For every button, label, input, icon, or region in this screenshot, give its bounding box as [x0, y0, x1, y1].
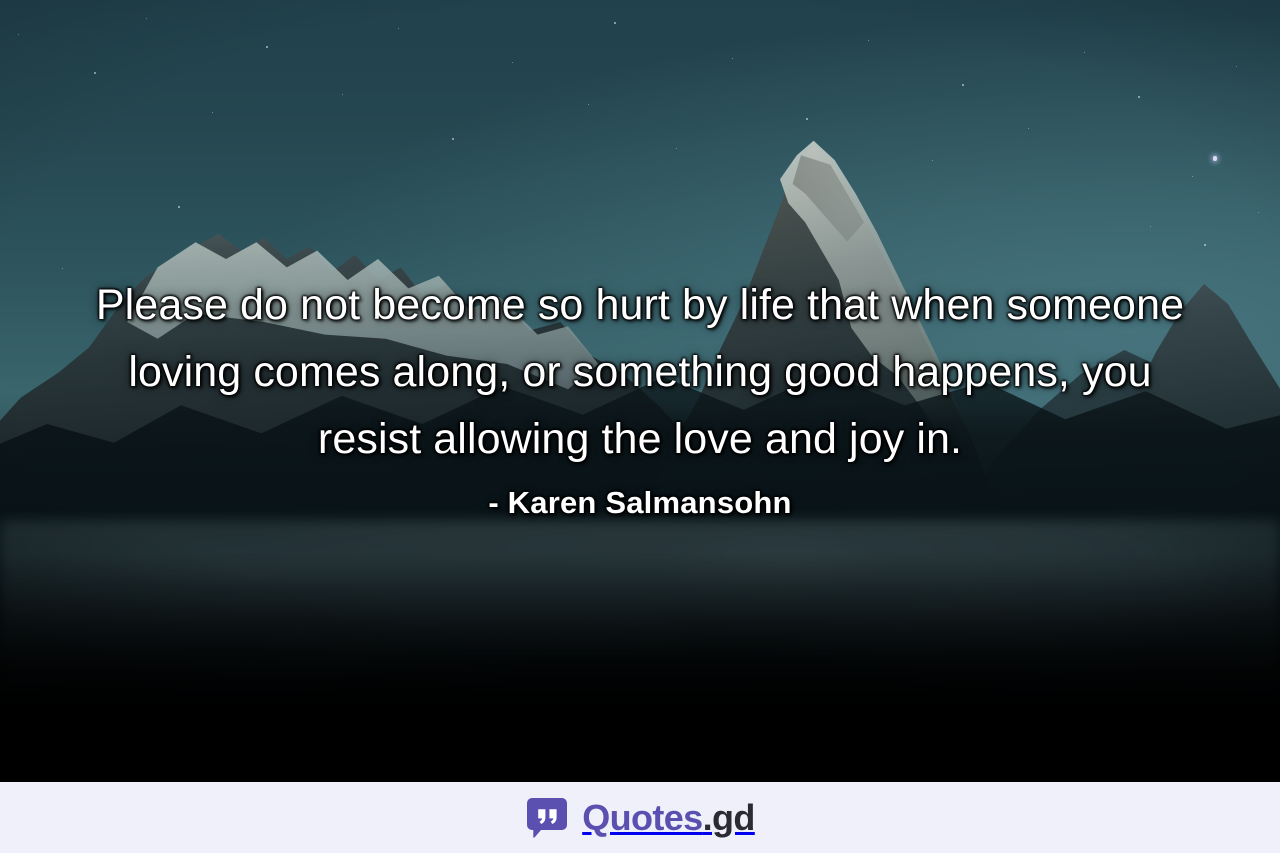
- logo-dot: .: [703, 800, 712, 836]
- quote-card: Please do not become so hurt by life tha…: [0, 0, 1280, 782]
- quote-bubble-icon: [525, 796, 569, 840]
- quote-image-page: Please do not become so hurt by life tha…: [0, 0, 1280, 853]
- quote-text: Please do not become so hurt by life tha…: [85, 272, 1195, 473]
- quote-author: - Karen Salmansohn: [488, 485, 791, 521]
- site-logo-link[interactable]: Quotes.gd: [525, 796, 755, 840]
- logo-tld: gd: [712, 800, 755, 836]
- quote-overlay: Please do not become so hurt by life tha…: [0, 0, 1280, 782]
- site-logo-text: Quotes.gd: [582, 800, 755, 836]
- logo-name: Quotes: [582, 800, 702, 836]
- site-footer: Quotes.gd: [0, 782, 1280, 853]
